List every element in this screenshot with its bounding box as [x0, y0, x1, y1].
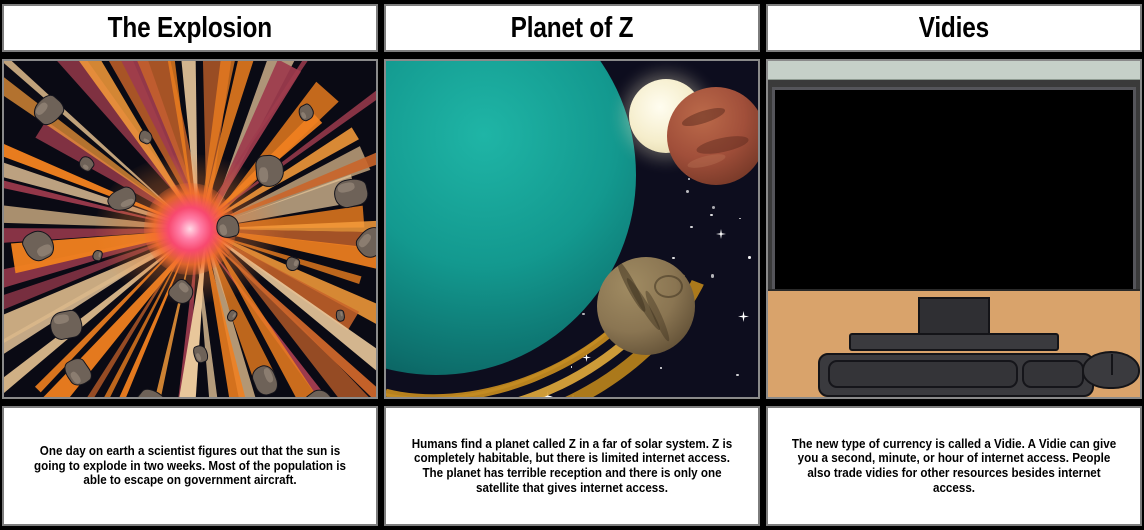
- panel-1-title-card: The Explosion: [2, 4, 378, 52]
- computer-scene: [768, 61, 1140, 397]
- panel-2-title: Planet of Z: [511, 12, 634, 45]
- panel-1-caption-card: One day on earth a scientist figures out…: [2, 406, 378, 526]
- space-scene: [386, 61, 758, 397]
- keyboard-numpad: [1022, 360, 1084, 388]
- panel-1-title: The Explosion: [108, 12, 272, 45]
- storyboard: The Explosion One day on earth a scienti…: [0, 0, 1144, 530]
- panel-3-title-card: Vidies: [766, 4, 1142, 52]
- monitor-screen: [772, 87, 1136, 301]
- star-dot: [736, 374, 739, 377]
- star-sparkle: [738, 311, 749, 322]
- panel-3-caption: The new type of currency is called a Vid…: [788, 437, 1119, 496]
- panel-3-artwork: [766, 59, 1142, 399]
- planet-tan: [597, 257, 695, 355]
- mouse: [1082, 351, 1140, 389]
- panel-2: Planet of Z: [384, 4, 760, 526]
- explosion-scene: [4, 61, 376, 397]
- star-dot: [660, 367, 662, 369]
- monitor-stand-base: [849, 333, 1059, 351]
- keyboard: [818, 353, 1094, 397]
- panel-3: Vidies The new type of currency is calle…: [766, 4, 1142, 526]
- panel-3-caption-card: The new type of currency is called a Vid…: [766, 406, 1142, 526]
- keyboard-main-keys: [828, 360, 1018, 388]
- panel-1: The Explosion One day on earth a scienti…: [2, 4, 378, 526]
- panel-1-artwork: [2, 59, 378, 399]
- star-dot: [711, 274, 714, 277]
- panel-1-caption: One day on earth a scientist figures out…: [24, 444, 355, 488]
- panel-2-caption-card: Humans find a planet called Z in a far o…: [384, 406, 760, 526]
- star-dot: [748, 256, 751, 259]
- panel-2-artwork: [384, 59, 760, 399]
- star-dot: [739, 218, 740, 219]
- planet-rust: [667, 87, 760, 185]
- panel-3-title: Vidies: [919, 12, 989, 45]
- panel-2-title-card: Planet of Z: [384, 4, 760, 52]
- wall-strip: [768, 61, 1140, 80]
- panel-2-caption: Humans find a planet called Z in a far o…: [406, 437, 737, 496]
